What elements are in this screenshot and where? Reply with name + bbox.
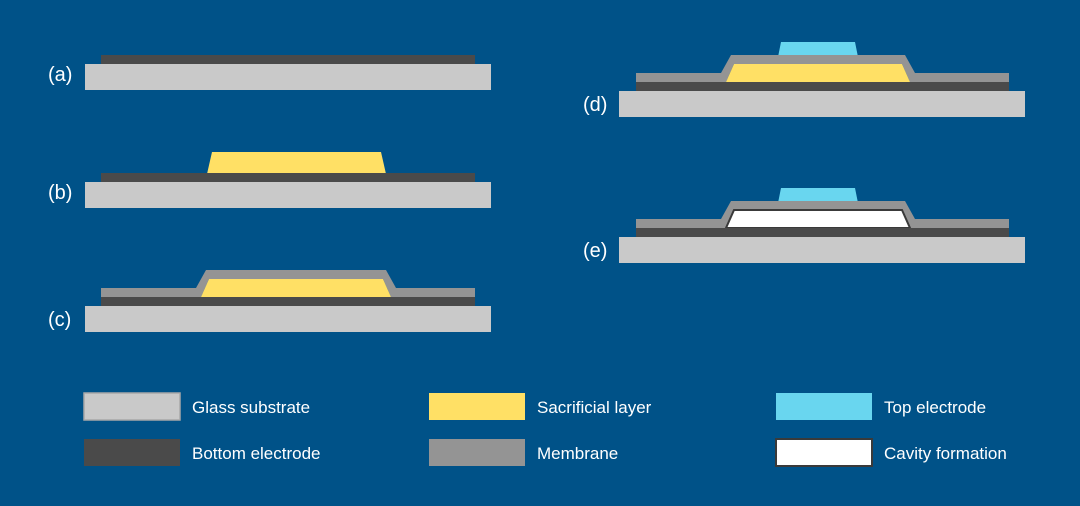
panel-a-label: (a) [48, 64, 72, 86]
legend-item-membrane: Membrane [429, 439, 618, 466]
panel-b-label: (b) [48, 182, 72, 204]
panel-c-bottom-electrode [101, 297, 475, 306]
legend-item-top-electrode: Top electrode [776, 393, 986, 420]
panel-c-label: (c) [48, 309, 71, 331]
legend-swatch-cavity-formation [776, 439, 872, 466]
legend-label-cavity-formation: Cavity formation [884, 444, 1007, 463]
legend-label-membrane: Membrane [537, 444, 618, 463]
panel-c: (c) [48, 270, 491, 332]
panel-c-sacrificial-layer [201, 279, 391, 297]
legend: Glass substrate Bottom electrode Sacrifi… [84, 393, 1007, 466]
panel-b-glass-substrate [85, 182, 491, 208]
legend-swatch-membrane [429, 439, 525, 466]
panel-b: (b) [48, 152, 491, 208]
panel-e: (e) [583, 188, 1025, 263]
legend-item-glass-substrate: Glass substrate [84, 393, 310, 420]
panel-d-label: (d) [583, 94, 607, 116]
panel-d-glass-substrate [619, 91, 1025, 117]
panel-a-glass-substrate [85, 64, 491, 90]
panel-a: (a) [48, 55, 491, 90]
panel-b-sacrificial-layer [207, 152, 386, 174]
panel-b-bottom-electrode [101, 173, 475, 182]
panel-a-bottom-electrode [101, 55, 475, 64]
process-flow-figure: (a) (b) (c) (d) [0, 0, 1080, 506]
legend-item-cavity-formation: Cavity formation [776, 439, 1007, 466]
panel-e-glass-substrate [619, 237, 1025, 263]
legend-label-bottom-electrode: Bottom electrode [192, 444, 321, 463]
legend-swatch-glass-substrate [84, 393, 180, 420]
process-flow-diagram: (a) (b) (c) (d) [0, 0, 1080, 506]
legend-swatch-top-electrode [776, 393, 872, 420]
legend-swatch-bottom-electrode [84, 439, 180, 466]
panel-e-cavity [726, 210, 910, 228]
legend-swatch-sacrificial-layer [429, 393, 525, 420]
legend-label-sacrificial-layer: Sacrificial layer [537, 398, 652, 417]
legend-label-glass-substrate: Glass substrate [192, 398, 310, 417]
legend-item-sacrificial-layer: Sacrificial layer [429, 393, 652, 420]
panel-e-bottom-electrode [636, 228, 1009, 237]
panel-d: (d) [583, 42, 1025, 117]
panel-e-label: (e) [583, 240, 607, 262]
panel-d-bottom-electrode [636, 82, 1009, 91]
panel-d-sacrificial-layer [726, 64, 910, 82]
legend-label-top-electrode: Top electrode [884, 398, 986, 417]
panel-c-glass-substrate [85, 306, 491, 332]
legend-item-bottom-electrode: Bottom electrode [84, 439, 321, 466]
